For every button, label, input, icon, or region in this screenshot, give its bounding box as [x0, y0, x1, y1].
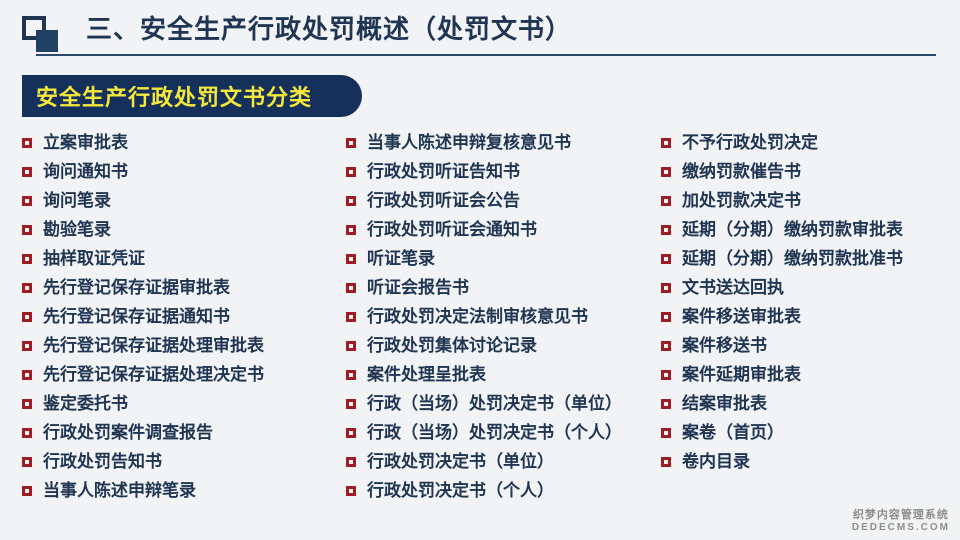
list-item-label: 卷内目录	[682, 452, 750, 471]
list-item-label: 听证笔录	[367, 249, 435, 268]
list-item: 案件处理呈批表	[346, 360, 622, 389]
list-item: 行政（当场）处罚决定书（单位）	[346, 389, 622, 418]
bullet-square-icon	[346, 196, 356, 206]
list-item: 行政处罚决定书（单位）	[346, 447, 622, 476]
section-banner: 安全生产行政处罚文书分类	[22, 75, 362, 117]
list-item: 不予行政处罚决定	[661, 128, 903, 157]
bullet-square-icon	[22, 312, 32, 322]
bullet-square-icon	[346, 167, 356, 177]
list-item-label: 当事人陈述申辩笔录	[43, 481, 196, 500]
bullet-square-icon	[661, 428, 671, 438]
bullet-square-icon	[346, 341, 356, 351]
bullet-square-icon	[22, 138, 32, 148]
list-item: 结案审批表	[661, 389, 903, 418]
list-item: 加处罚款决定书	[661, 186, 903, 215]
bullet-square-icon	[661, 370, 671, 380]
slide-header: 三、安全生产行政处罚概述（处罚文书）	[0, 0, 960, 62]
watermark-cn-text: 织梦内容管理系统	[852, 509, 950, 522]
list-item: 案件移送审批表	[661, 302, 903, 331]
list-item: 行政处罚决定书（个人）	[346, 476, 622, 505]
list-item: 缴纳罚款催告书	[661, 157, 903, 186]
list-item-label: 听证会报告书	[367, 278, 469, 297]
list-item: 先行登记保存证据审批表	[22, 273, 264, 302]
list-item-label: 抽样取证凭证	[43, 249, 145, 268]
bullet-square-icon	[22, 283, 32, 293]
list-item: 行政（当场）处罚决定书（个人）	[346, 418, 622, 447]
watermark-en-text: DEDECMS.COM	[852, 522, 950, 534]
list-item-label: 行政处罚听证会通知书	[367, 220, 537, 239]
bullet-square-icon	[661, 341, 671, 351]
list-item-label: 行政处罚案件调查报告	[43, 423, 213, 442]
list-item-label: 文书送达回执	[682, 278, 784, 297]
bullet-square-icon	[22, 167, 32, 177]
list-item-label: 加处罚款决定书	[682, 191, 801, 210]
list-item: 先行登记保存证据通知书	[22, 302, 264, 331]
list-item: 案件移送书	[661, 331, 903, 360]
bullet-square-icon	[346, 486, 356, 496]
list-item: 案件延期审批表	[661, 360, 903, 389]
list-item-label: 行政处罚告知书	[43, 452, 162, 471]
list-item-label: 先行登记保存证据处理决定书	[43, 365, 264, 384]
list-item-label: 结案审批表	[682, 394, 767, 413]
list-item: 立案审批表	[22, 128, 264, 157]
list-item: 卷内目录	[661, 447, 903, 476]
list-item: 询问通知书	[22, 157, 264, 186]
list-item-label: 案卷（首页）	[682, 423, 784, 442]
list-item: 抽样取证凭证	[22, 244, 264, 273]
list-item: 案卷（首页）	[661, 418, 903, 447]
list-item: 听证笔录	[346, 244, 622, 273]
bullet-square-icon	[661, 138, 671, 148]
list-item-label: 行政处罚决定书（单位）	[367, 452, 554, 471]
list-item: 先行登记保存证据处理决定书	[22, 360, 264, 389]
bullet-square-icon	[661, 399, 671, 409]
list-item-label: 行政（当场）处罚决定书（个人）	[367, 423, 622, 442]
list-item-label: 先行登记保存证据审批表	[43, 278, 230, 297]
list-item-label: 当事人陈述申辩复核意见书	[367, 133, 571, 152]
bullet-square-icon	[22, 341, 32, 351]
list-item-label: 案件处理呈批表	[367, 365, 486, 384]
square-filled-shape	[36, 30, 58, 52]
list-item-label: 案件移送审批表	[682, 307, 801, 326]
bullet-square-icon	[22, 254, 32, 264]
bullet-square-icon	[346, 457, 356, 467]
list-item-label: 行政处罚听证告知书	[367, 162, 520, 181]
list-item: 行政处罚告知书	[22, 447, 264, 476]
bullet-square-icon	[346, 370, 356, 380]
document-column-3: 不予行政处罚决定缴纳罚款催告书加处罚款决定书延期（分期）缴纳罚款审批表延期（分期…	[661, 128, 903, 476]
bullet-square-icon	[22, 370, 32, 380]
list-item: 延期（分期）缴纳罚款审批表	[661, 215, 903, 244]
bullet-square-icon	[661, 283, 671, 293]
bullet-square-icon	[22, 399, 32, 409]
list-item: 延期（分期）缴纳罚款批准书	[661, 244, 903, 273]
list-item: 行政处罚集体讨论记录	[346, 331, 622, 360]
list-item-label: 行政处罚集体讨论记录	[367, 336, 537, 355]
bullet-square-icon	[346, 138, 356, 148]
list-item-label: 延期（分期）缴纳罚款批准书	[682, 249, 903, 268]
list-item: 行政处罚听证会公告	[346, 186, 622, 215]
document-list-columns: 立案审批表询问通知书询问笔录勘验笔录抽样取证凭证先行登记保存证据审批表先行登记保…	[0, 128, 960, 528]
list-item-label: 勘验笔录	[43, 220, 111, 239]
list-item: 行政处罚决定法制审核意见书	[346, 302, 622, 331]
bullet-square-icon	[346, 283, 356, 293]
list-item-label: 行政处罚听证会公告	[367, 191, 520, 210]
header-divider	[36, 54, 936, 56]
bullet-square-icon	[661, 196, 671, 206]
section-banner-label: 安全生产行政处罚文书分类	[22, 80, 312, 112]
bullet-square-icon	[661, 167, 671, 177]
bullet-square-icon	[661, 312, 671, 322]
document-column-2: 当事人陈述申辩复核意见书行政处罚听证告知书行政处罚听证会公告行政处罚听证会通知书…	[346, 128, 622, 505]
bullet-square-icon	[22, 486, 32, 496]
list-item-label: 先行登记保存证据通知书	[43, 307, 230, 326]
list-item: 行政处罚案件调查报告	[22, 418, 264, 447]
list-item: 文书送达回执	[661, 273, 903, 302]
overlapping-squares-icon	[22, 16, 62, 52]
list-item-label: 缴纳罚款催告书	[682, 162, 801, 181]
bullet-square-icon	[22, 428, 32, 438]
list-item-label: 立案审批表	[43, 133, 128, 152]
bullet-square-icon	[661, 254, 671, 264]
list-item-label: 延期（分期）缴纳罚款审批表	[682, 220, 903, 239]
list-item: 当事人陈述申辩复核意见书	[346, 128, 622, 157]
list-item-label: 询问通知书	[43, 162, 128, 181]
bullet-square-icon	[661, 457, 671, 467]
bullet-square-icon	[346, 225, 356, 235]
list-item-label: 先行登记保存证据处理审批表	[43, 336, 264, 355]
list-item-label: 行政（当场）处罚决定书（单位）	[367, 394, 622, 413]
list-item-label: 案件移送书	[682, 336, 767, 355]
page-title: 三、安全生产行政处罚概述（处罚文书）	[86, 10, 572, 48]
document-column-1: 立案审批表询问通知书询问笔录勘验笔录抽样取证凭证先行登记保存证据审批表先行登记保…	[22, 128, 264, 505]
bullet-square-icon	[22, 196, 32, 206]
bullet-square-icon	[22, 457, 32, 467]
bullet-square-icon	[346, 254, 356, 264]
list-item-label: 不予行政处罚决定	[682, 133, 818, 152]
list-item: 先行登记保存证据处理审批表	[22, 331, 264, 360]
watermark: 织梦内容管理系统 DEDECMS.COM	[852, 509, 950, 534]
slide-root: 三、安全生产行政处罚概述（处罚文书） 安全生产行政处罚文书分类 立案审批表询问通…	[0, 0, 960, 540]
bullet-square-icon	[22, 225, 32, 235]
list-item: 行政处罚听证告知书	[346, 157, 622, 186]
list-item: 鉴定委托书	[22, 389, 264, 418]
list-item: 询问笔录	[22, 186, 264, 215]
list-item: 勘验笔录	[22, 215, 264, 244]
bullet-square-icon	[661, 225, 671, 235]
list-item-label: 行政处罚决定书（个人）	[367, 481, 554, 500]
list-item-label: 鉴定委托书	[43, 394, 128, 413]
list-item-label: 行政处罚决定法制审核意见书	[367, 307, 588, 326]
bullet-square-icon	[346, 399, 356, 409]
list-item: 行政处罚听证会通知书	[346, 215, 622, 244]
list-item: 听证会报告书	[346, 273, 622, 302]
list-item-label: 询问笔录	[43, 191, 111, 210]
bullet-square-icon	[346, 428, 356, 438]
list-item-label: 案件延期审批表	[682, 365, 801, 384]
bullet-square-icon	[346, 312, 356, 322]
list-item: 当事人陈述申辩笔录	[22, 476, 264, 505]
